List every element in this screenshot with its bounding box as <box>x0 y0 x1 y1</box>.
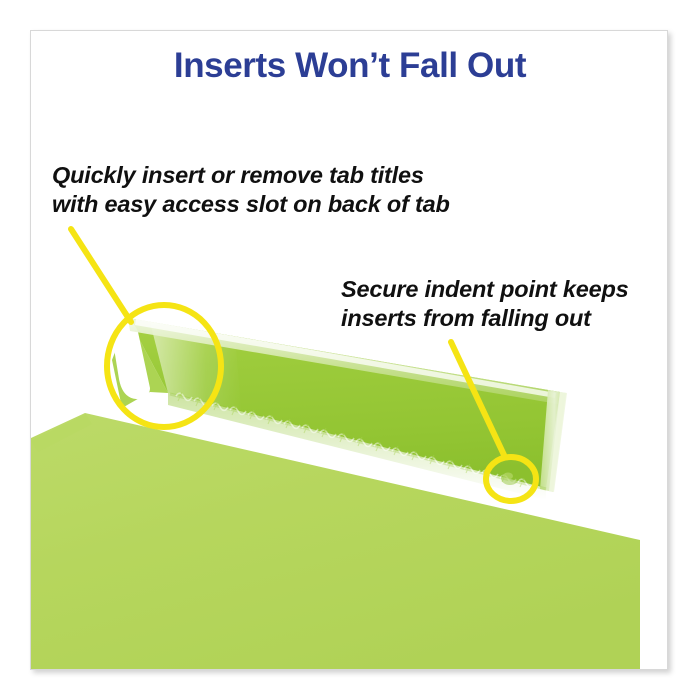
callout-access-slot-line-2: with easy access slot on back of tab <box>52 190 450 219</box>
callout-indent-point-line-1: Secure indent point keeps <box>341 275 629 304</box>
page-title: Inserts Won’t Fall Out <box>0 46 700 86</box>
callout-access-slot-line-1: Quickly insert or remove tab titles <box>52 161 450 190</box>
callout-indent-point-line-2: inserts from falling out <box>341 304 629 333</box>
product-feature-image: Inserts Won’t Fall Out Quickly insert or… <box>0 0 700 700</box>
callout-text-indent-point: Secure indent point keeps inserts from f… <box>341 275 629 333</box>
product-photo-card <box>30 30 668 670</box>
callout-text-access-slot: Quickly insert or remove tab titles with… <box>52 161 450 219</box>
